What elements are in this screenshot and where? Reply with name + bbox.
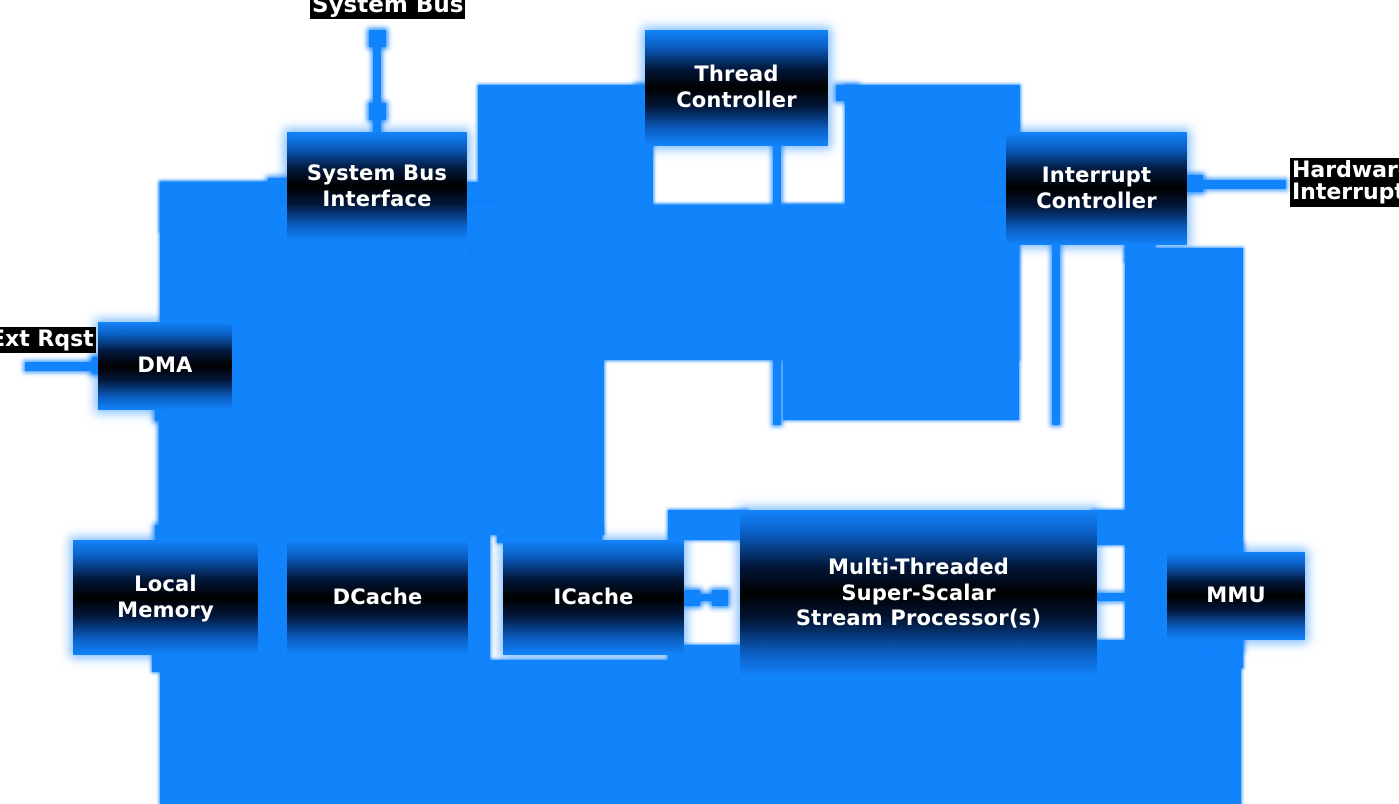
interrupt-controller-label-line2: Controller — [1030, 189, 1163, 215]
bus-port-dcache-top — [369, 519, 386, 536]
edge-label-ext-rqst: Ext Rqst — [0, 327, 96, 353]
node-thread-controller[interactable]: Thread Controller — [645, 30, 828, 146]
node-mmu[interactable]: MMU — [1167, 552, 1305, 640]
wire-dma-to-localmem — [159, 412, 167, 532]
wire-dma-to-dcache-a — [240, 374, 376, 378]
bus-port-interrupt-right — [1186, 175, 1203, 192]
bus-center-lower-left — [474, 205, 604, 535]
wire-hardware-interrupts-in — [1196, 180, 1286, 189]
edge-label-hardware-interrupts: Hardware Interrupts — [1290, 158, 1399, 207]
system-bus-interface-label-line2: Interface — [301, 187, 453, 213]
bus-bottom-wide-rail — [160, 660, 1241, 804]
bus-icache-processor-gap-upper — [668, 510, 748, 540]
thread-controller-label-line1: Thread — [670, 62, 803, 88]
stream-processor-label-line1: Multi-Threaded — [790, 555, 1047, 581]
wire-interrupt-controller-drop — [1052, 240, 1060, 425]
dma-label: DMA — [131, 353, 198, 379]
wire-dcache-drop — [373, 375, 381, 530]
node-local-memory[interactable]: Local Memory — [73, 540, 258, 655]
node-stream-processor[interactable]: Multi-Threaded Super-Scalar Stream Proce… — [740, 510, 1097, 677]
interrupt-controller-label-line1: Interrupt — [1030, 163, 1163, 189]
node-interrupt-controller[interactable]: Interrupt Controller — [1006, 132, 1187, 245]
node-dcache[interactable]: DCache — [287, 540, 468, 655]
bus-processor-mmu-gap-upper — [1092, 510, 1172, 545]
local-memory-label-line1: Local — [111, 572, 220, 598]
bus-port-sbi-right-nub — [466, 205, 488, 221]
bus-port-tc-right-nub — [836, 85, 858, 101]
stream-processor-label-line3: Stream Processor(s) — [790, 606, 1047, 632]
node-icache[interactable]: ICache — [503, 540, 684, 655]
stream-processor-label-line2: Super-Scalar — [790, 581, 1047, 607]
node-system-bus-interface[interactable]: System Bus Interface — [287, 132, 467, 241]
hardware-interrupts-label-line2: Interrupts — [1292, 182, 1399, 204]
ext-rqst-label-text: Ext Rqst — [0, 327, 94, 352]
bus-sbi-to-thread-controller — [478, 85, 653, 215]
block-diagram-canvas: System Bus Interface Thread Controller I… — [0, 0, 1399, 804]
mmu-label: MMU — [1200, 583, 1271, 609]
node-dma[interactable]: DMA — [98, 322, 232, 410]
dcache-label: DCache — [327, 585, 429, 611]
system-bus-label-text: System Bus — [312, 0, 463, 18]
local-memory-label-line2: Memory — [111, 598, 220, 624]
bus-thread-to-interrupt — [845, 85, 1020, 215]
bus-center-lower-right — [783, 205, 1019, 420]
wire-dma-to-dcache-b — [240, 381, 376, 385]
edge-label-system-bus: System Bus — [310, 0, 465, 19]
icache-label: ICache — [547, 585, 639, 611]
system-bus-interface-label-line1: System Bus — [301, 161, 453, 187]
thread-controller-label-line2: Controller — [670, 88, 803, 114]
bus-port-processor-left — [712, 590, 728, 606]
hardware-interrupts-label-line1: Hardware — [1292, 160, 1399, 182]
wire-system-bus-vertical — [373, 40, 381, 110]
